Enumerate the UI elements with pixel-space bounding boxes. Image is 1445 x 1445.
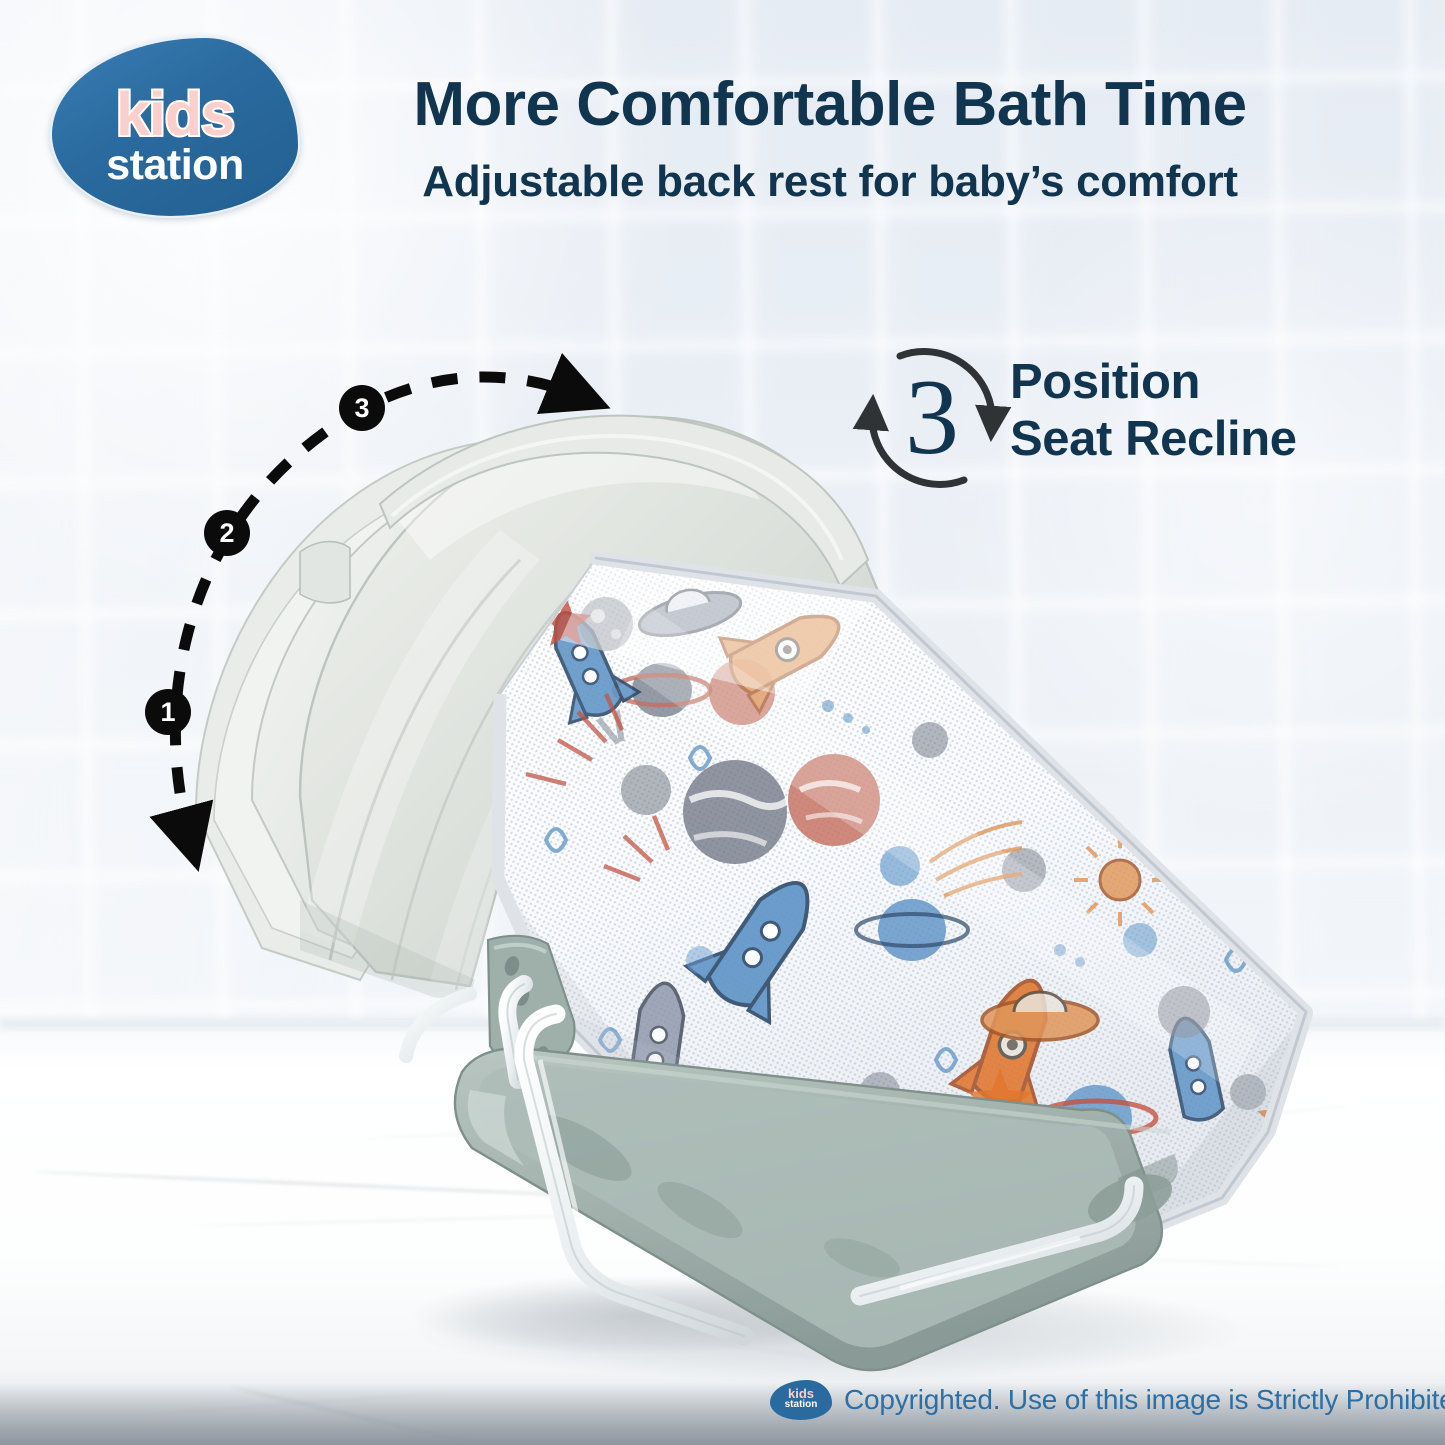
position-marker-3-label: 3 <box>354 395 369 422</box>
position-marker-2: 2 <box>204 510 250 556</box>
recline-count-number: 3 <box>852 338 1012 498</box>
product-marketing-image: 1 2 3 kids station More Comfortable Bath… <box>0 0 1445 1445</box>
copyright-footer: kids station Copyrighted. Use of this im… <box>770 1378 1445 1422</box>
page-title: More Comfortable Bath Time <box>330 72 1330 137</box>
position-marker-3: 3 <box>339 385 385 431</box>
footer-logo-station-text: station <box>770 1400 832 1410</box>
position-marker-2-label: 2 <box>219 520 234 547</box>
recline-badge-line2: Seat Recline <box>1010 411 1297 468</box>
copyright-text: Copyrighted. Use of this image is Strict… <box>844 1384 1445 1416</box>
recline-badge-text: Position Seat Recline <box>1010 354 1297 468</box>
recline-feature-badge: 3 Position Seat Recline <box>852 338 1372 498</box>
footer-brand-logo: kids station <box>770 1380 832 1420</box>
page-subtitle: Adjustable back rest for baby’s comfort <box>330 158 1330 206</box>
brand-logo: kids station <box>50 36 300 218</box>
recline-badge-line1: Position <box>1010 354 1297 411</box>
wall-highlight-right <box>885 120 1445 880</box>
logo-kids-text: kids <box>50 84 300 145</box>
logo-station-text: station <box>50 144 300 187</box>
position-marker-1-label: 1 <box>160 699 175 726</box>
position-marker-1: 1 <box>145 689 191 735</box>
